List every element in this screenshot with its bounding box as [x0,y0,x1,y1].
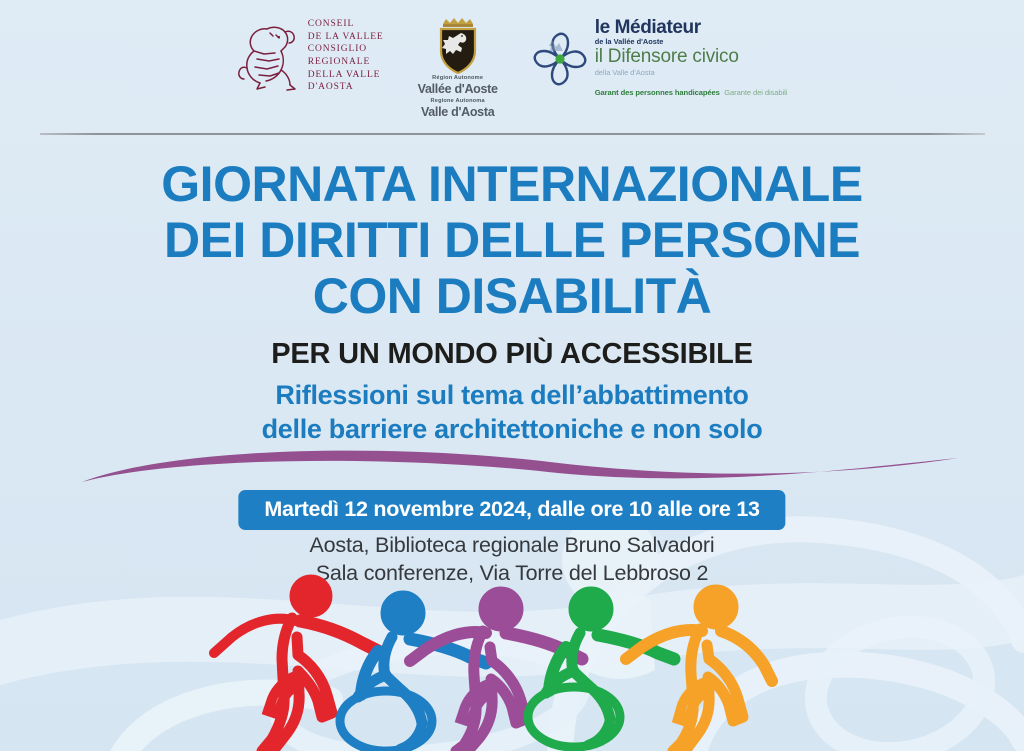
figure-walking-orange [626,585,772,751]
title-block: GIORNATA INTERNAZIONALE DEI DIRITTI DELL… [0,156,1024,446]
figure-wheelchair-green [528,587,674,747]
logo-region-autonome: Région Autonome Vallée d'Aoste Regione A… [418,18,498,120]
subtitle-caps: PER UN MONDO PIÙ ACCESSIBILE [0,339,1024,371]
logo-region-line2: Vallée d'Aoste [418,83,498,96]
logo-mediateur-it-main: il Difensore civico [595,47,788,68]
logo-mediateur: le Médiateur de la Vallée d'Aoste il Dif… [532,18,788,100]
lion-rampant-icon [237,21,299,91]
page-title-line3: CON DISABILITÀ [0,268,1024,324]
crowned-shield-icon [434,18,481,74]
figure-walking-red [214,575,378,751]
logo-region-line4: Valle d'Aosta [421,106,494,119]
subtitle-blue-line2: delle barriere architettoniche e non sol… [0,412,1024,446]
page-title-line1: GIORNATA INTERNAZIONALE [0,156,1024,212]
date-banner: Martedì 12 novembre 2024, dalle ore 10 a… [238,490,785,530]
venue-block: Aosta, Biblioteca regionale Bruno Salvad… [0,532,1024,587]
logo-conseil-regional: CONSEIL DE LA VALLEE CONSIGLIO REGIONALE… [237,18,384,94]
poster-root: CONSEIL DE LA VALLEE CONSIGLIO REGIONALE… [0,0,1024,751]
chain-of-people-illustration [0,571,1024,751]
logo-mediateur-tag-it: Garante dei disabili [724,88,787,97]
venue-line2: Sala conferenze, Via Torre del Lebbroso … [0,560,1024,588]
logo-conseil-text: CONSEIL DE LA VALLEE CONSIGLIO REGIONALE… [308,18,384,94]
logo-mediateur-tagline: Garant des personnes handicapées Garante… [595,81,788,100]
header-divider [40,133,985,135]
logo-bar: CONSEIL DE LA VALLEE CONSIGLIO REGIONALE… [0,18,1024,122]
logo-mediateur-it-sub: della Valle d'Aosta [595,68,788,78]
subtitle-blue-line1: Riflessioni sul tema dell’abbattimento [0,378,1024,412]
subtitle-blue: Riflessioni sul tema dell’abbattimento d… [0,378,1024,447]
logo-region-line3: Regione Autonoma [431,98,485,105]
logo-mediateur-text: le Médiateur de la Vallée d'Aoste il Dif… [595,18,788,100]
figure-wheelchair-blue [340,591,486,751]
four-petal-flower-icon [532,31,588,87]
figure-walking-purple [410,587,582,751]
venue-line1: Aosta, Biblioteca regionale Bruno Salvad… [0,532,1024,560]
logo-mediateur-tag-fr: Garant des personnes handicapées [595,88,720,97]
logo-mediateur-fr-main: le Médiateur [595,18,788,37]
page-title-line2: DEI DIRITTI DELLE PERSONE [0,212,1024,268]
logo-region-line1: Région Autonome [432,75,483,82]
